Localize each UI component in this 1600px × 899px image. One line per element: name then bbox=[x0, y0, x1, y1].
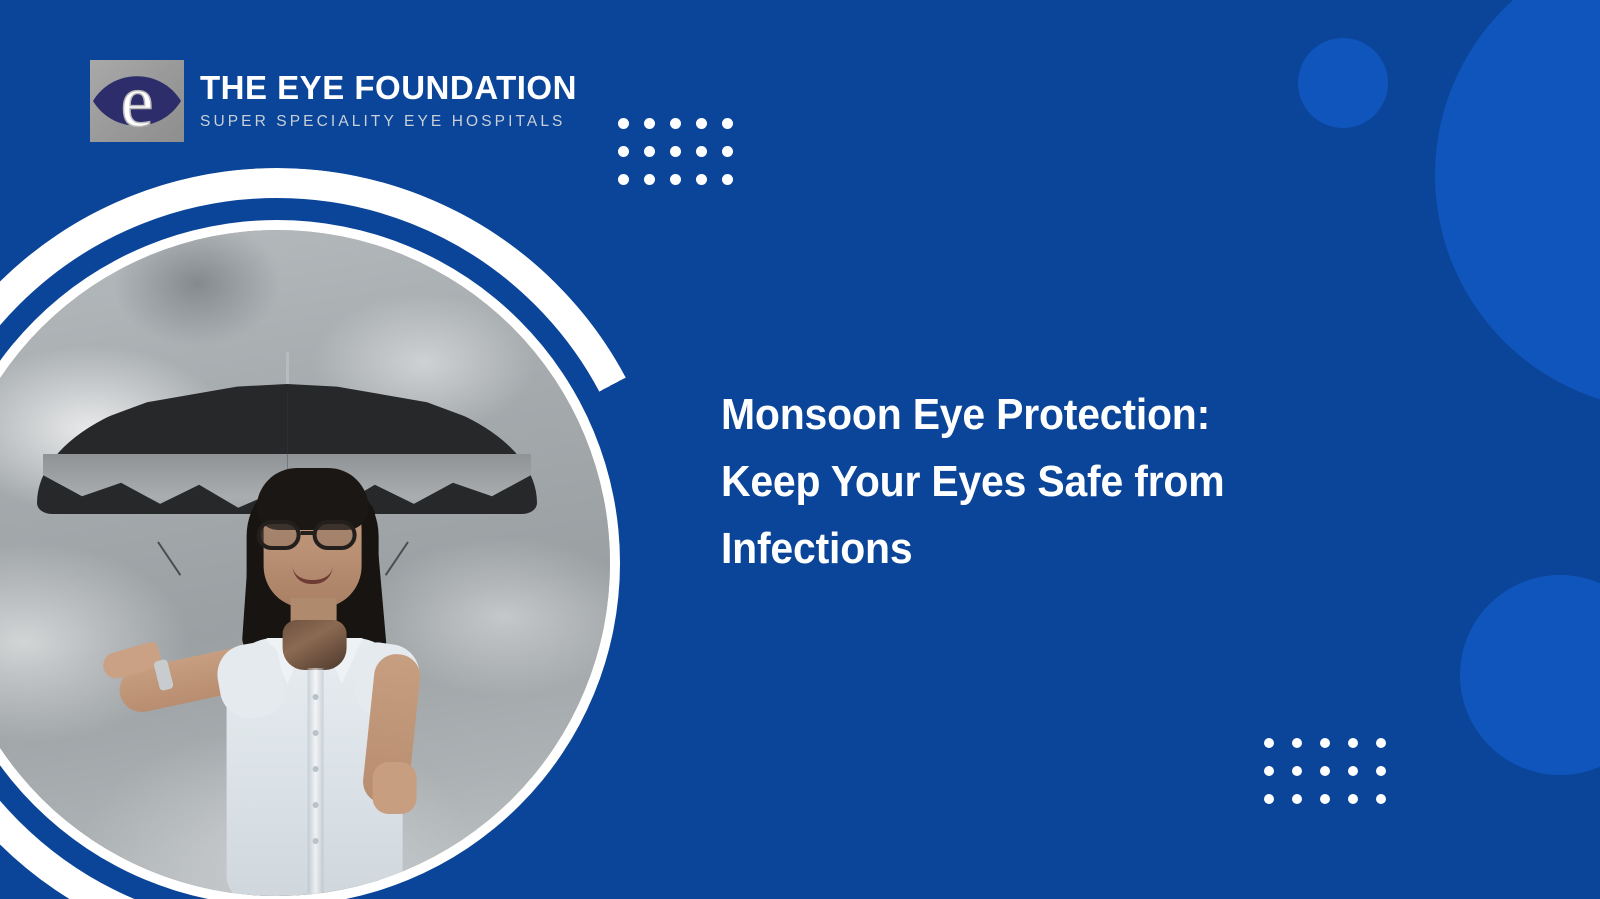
umbrella-tip bbox=[286, 352, 289, 388]
decorative-circle-small bbox=[1298, 38, 1388, 128]
page-title: Monsoon Eye Protection: Keep Your Eyes S… bbox=[721, 382, 1353, 583]
shirt-button bbox=[313, 766, 319, 772]
dot bbox=[1292, 794, 1302, 804]
dot bbox=[1320, 794, 1330, 804]
decorative-circle-bottom-right bbox=[1460, 575, 1600, 775]
dot bbox=[696, 174, 707, 185]
dot bbox=[1348, 766, 1358, 776]
brand-logo[interactable]: e THE EYE FOUNDATION SUPER SPECIALITY EY… bbox=[90, 60, 577, 142]
logo-tagline: SUPER SPECIALITY EYE HOSPITALS bbox=[200, 113, 577, 131]
lens-right bbox=[313, 520, 357, 550]
dot bbox=[644, 118, 655, 129]
dot bbox=[1348, 794, 1358, 804]
logo-text-block: THE EYE FOUNDATION SUPER SPECIALITY EYE … bbox=[200, 71, 577, 131]
dot bbox=[1320, 766, 1330, 776]
dot bbox=[1264, 738, 1274, 748]
dot bbox=[1320, 738, 1330, 748]
dot bbox=[1292, 738, 1302, 748]
logo-title: THE EYE FOUNDATION bbox=[200, 71, 577, 106]
dot bbox=[1264, 766, 1274, 776]
hero-photo bbox=[0, 230, 610, 896]
dot bbox=[722, 174, 733, 185]
headline-line-2: Keep Your Eyes Safe from bbox=[721, 449, 1353, 516]
headline-line-1: Monsoon Eye Protection: bbox=[721, 382, 1353, 449]
lens-left bbox=[257, 520, 301, 550]
dot bbox=[1292, 766, 1302, 776]
hero-image-composition bbox=[0, 168, 672, 899]
promo-banner: e THE EYE FOUNDATION SUPER SPECIALITY EY… bbox=[0, 0, 1600, 899]
dot bbox=[1348, 738, 1358, 748]
svg-text:e: e bbox=[121, 61, 154, 142]
dot bbox=[670, 146, 681, 157]
dot bbox=[618, 118, 629, 129]
eye-logo-mark-icon: e bbox=[90, 60, 184, 142]
dot bbox=[696, 146, 707, 157]
dot bbox=[1376, 766, 1386, 776]
dot bbox=[670, 118, 681, 129]
dot-grid-bottom-right bbox=[1264, 738, 1404, 822]
woman-figure bbox=[101, 462, 521, 896]
hand-right-holding-umbrella bbox=[373, 762, 417, 814]
shirt-placket bbox=[308, 668, 324, 896]
eyeglasses bbox=[257, 520, 371, 550]
dot bbox=[1264, 794, 1274, 804]
dot bbox=[1376, 794, 1386, 804]
dot bbox=[618, 146, 629, 157]
dot bbox=[696, 118, 707, 129]
shirt-button bbox=[313, 802, 319, 808]
shirt-button bbox=[313, 694, 319, 700]
decorative-circle-large bbox=[1435, 0, 1600, 410]
dot bbox=[1376, 738, 1386, 748]
headline-line-3: Infections bbox=[721, 516, 1353, 583]
shirt-button bbox=[313, 838, 319, 844]
neck-scarf bbox=[283, 620, 347, 670]
dot bbox=[722, 118, 733, 129]
shirt-button bbox=[313, 730, 319, 736]
dot bbox=[722, 146, 733, 157]
dot bbox=[644, 146, 655, 157]
